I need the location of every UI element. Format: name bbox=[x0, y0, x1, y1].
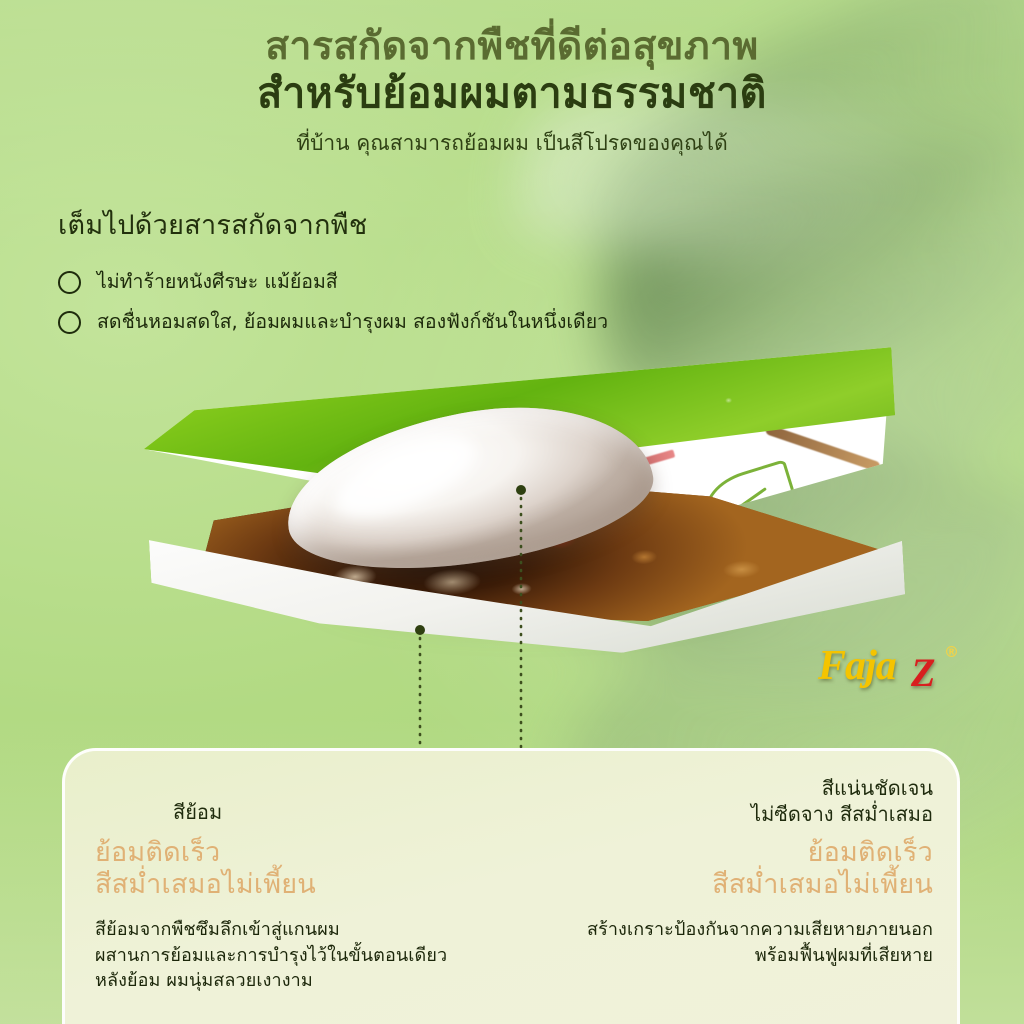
callout-label-right-line1: สีแน่นชัดเจน bbox=[751, 775, 933, 801]
info-panel: สีย้อม ย้อมติดเร็ว สีสม่ำเสมอไม่เพี้ยน ส… bbox=[62, 748, 960, 1024]
info-panel-content: สีย้อม ย้อมติดเร็ว สีสม่ำเสมอไม่เพี้ยน ส… bbox=[65, 751, 957, 1024]
sachet bbox=[140, 347, 907, 679]
callout-label-left: สีย้อม bbox=[173, 799, 222, 825]
list-item: ไม่ทำร้ายหนังศีรษะ แม้ย้อมสี bbox=[58, 269, 718, 295]
features-list: ไม่ทำร้ายหนังศีรษะ แม้ย้อมสี สดชื่นหอมสด… bbox=[58, 269, 718, 336]
headline-line-2: สำหรับย้อมผมตามธรรมชาติ bbox=[0, 68, 1024, 118]
advertisement-page: สารสกัดจากพืชที่ดีต่อสุขภาพ สำหรับย้อมผม… bbox=[0, 0, 1024, 1024]
brand-accent-letter: Z bbox=[911, 653, 935, 693]
benefit-heading-right-line1: ย้อมติดเร็ว bbox=[712, 837, 933, 869]
headline-subtitle: ที่บ้าน คุณสามารถย้อมผม เป็นสีโปรดของคุณ… bbox=[0, 130, 1024, 157]
product-image bbox=[120, 360, 920, 690]
callout-label-right-line2: ไม่ซีดจาง สีสม่ำเสมอ bbox=[751, 801, 933, 827]
benefit-body-left-line1: สีย้อมจากพืชซึมลึกเข้าสู่แกนผม bbox=[95, 917, 447, 943]
feature-text: ไม่ทำร้ายหนังศีรษะ แม้ย้อมสี bbox=[97, 269, 338, 295]
benefit-body-right-line1: สร้างเกราะป้องกันจากความเสียหายภายนอก bbox=[587, 917, 933, 943]
circle-outline-icon bbox=[58, 311, 81, 334]
benefit-body-left-line3: หลังย้อม ผมนุ่มสลวยเงางาม bbox=[95, 968, 447, 994]
brand-name: Faja bbox=[818, 645, 896, 687]
benefit-heading-left: ย้อมติดเร็ว สีสม่ำเสมอไม่เพี้ยน bbox=[95, 837, 316, 902]
brand-logo: Faja Z ® bbox=[818, 645, 978, 703]
header: สารสกัดจากพืชที่ดีต่อสุขภาพ สำหรับย้อมผม… bbox=[0, 0, 1024, 157]
benefit-heading-left-line1: ย้อมติดเร็ว bbox=[95, 837, 316, 869]
benefit-body-left-line2: ผสานการย้อมและการบำรุงไว้ในขั้นตอนเดียว bbox=[95, 943, 447, 969]
features-title: เต็มไปด้วยสารสกัดจากพืช bbox=[58, 208, 718, 243]
benefit-body-right-line2: พร้อมฟื้นฟูผมที่เสียหาย bbox=[587, 943, 933, 969]
benefit-heading-right-line2: สีสม่ำเสมอไม่เพี้ยน bbox=[712, 869, 933, 901]
benefit-body-right: สร้างเกราะป้องกันจากความเสียหายภายนอก พร… bbox=[587, 917, 933, 968]
benefit-body-left: สีย้อมจากพืชซึมลึกเข้าสู่แกนผม ผสานการย้… bbox=[95, 917, 447, 994]
circle-outline-icon bbox=[58, 271, 81, 294]
feature-text: สดชื่นหอมสดใส, ย้อมผมและบำรุงผม สองฟังก์… bbox=[97, 309, 608, 335]
callout-label-right: สีแน่นชัดเจน ไม่ซีดจาง สีสม่ำเสมอ bbox=[751, 775, 933, 828]
headline-line-1: สารสกัดจากพืชที่ดีต่อสุขภาพ bbox=[0, 24, 1024, 70]
benefit-heading-right: ย้อมติดเร็ว สีสม่ำเสมอไม่เพี้ยน bbox=[712, 837, 933, 902]
registered-trademark-icon: ® bbox=[944, 643, 959, 661]
list-item: สดชื่นหอมสดใส, ย้อมผมและบำรุงผม สองฟังก์… bbox=[58, 309, 718, 335]
benefit-heading-left-line2: สีสม่ำเสมอไม่เพี้ยน bbox=[95, 869, 316, 901]
features-block: เต็มไปด้วยสารสกัดจากพืช ไม่ทำร้ายหนังศีร… bbox=[58, 208, 718, 350]
